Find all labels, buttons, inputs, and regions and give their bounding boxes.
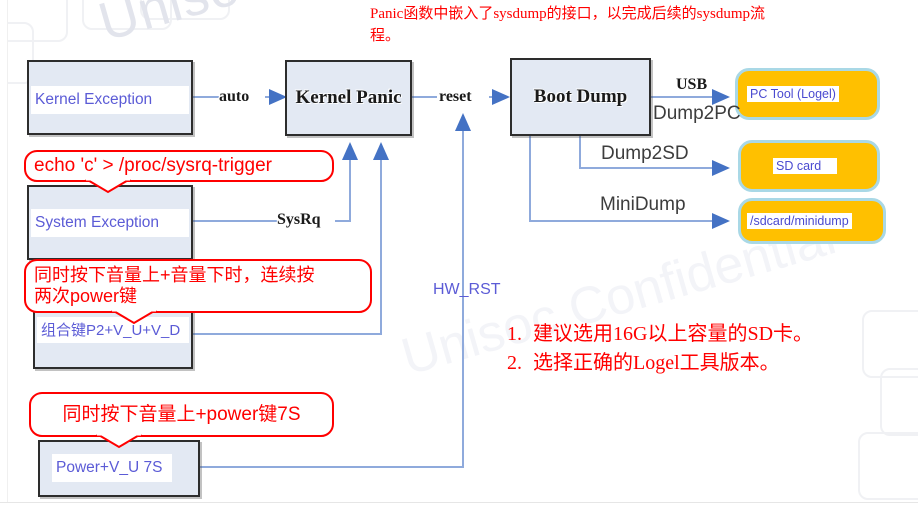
box-system-exception-label: System Exception: [35, 215, 159, 231]
callout-sysrq-trigger: echo 'c' > /proc/sysrq-trigger: [24, 150, 334, 182]
dest-minidump[interactable]: /sdcard/minidump: [738, 198, 886, 244]
callout-combo-key-tail: [110, 310, 158, 324]
edge-label-reset: reset: [439, 88, 472, 106]
box-kernel-exception-band: Kernel Exception: [31, 86, 189, 114]
box-combo-key-label: 组合键P2+V_U+V_D: [41, 323, 180, 338]
callout-sysrq-tail: [84, 179, 132, 193]
box-system-exception-band: System Exception: [31, 209, 189, 237]
callout-power-hint: 同时按下音量上+power键7S: [29, 392, 334, 437]
top-note: Panic函数中嵌入了sysdump的接口，以完成后续的sysdump流程。: [370, 4, 790, 48]
tips-list: 建议选用16G以上容量的SD卡。 选择正确的Logel工具版本。: [497, 320, 813, 378]
callout-combo-key-line2: 两次power键: [34, 286, 137, 307]
callout-power-hint-text: 同时按下音量上+power键7S: [62, 404, 300, 426]
box-power-vu[interactable]: Power+V_U 7S: [38, 440, 200, 497]
box-kernel-panic-label: Kernel Panic: [295, 87, 401, 109]
tip-item-1: 建议选用16G以上容量的SD卡。: [527, 320, 813, 349]
callout-combo-key-line1: 同时按下音量上+音量下时，连续按: [34, 265, 315, 286]
callout-sysrq-trigger-text: echo 'c' > /proc/sysrq-trigger: [34, 155, 272, 177]
decor-corner-bottom-right-3: [858, 432, 918, 500]
edge-label-minidump: MiniDump: [600, 194, 686, 216]
edge-label-usb: USB: [676, 76, 707, 94]
box-system-exception[interactable]: System Exception: [27, 185, 193, 260]
box-boot-dump[interactable]: Boot Dump: [510, 58, 651, 136]
tip-item-2: 选择正确的Logel工具版本。: [527, 349, 813, 378]
dest-sd-card[interactable]: SD card: [738, 140, 880, 192]
edge-label-sysrq: SysRq: [277, 211, 321, 229]
box-boot-dump-label: Boot Dump: [534, 86, 627, 108]
callout-combo-key-hint: 同时按下音量上+音量下时，连续按 两次power键: [24, 259, 372, 313]
edge-label-dump2pc: Dump2PC: [653, 103, 741, 125]
slide-bottom-edge: [0, 502, 918, 511]
decor-corner-top-mid-2: [140, 0, 230, 20]
box-power-vu-label: Power+V_U 7S: [56, 460, 162, 476]
box-kernel-exception-label: Kernel Exception: [35, 92, 152, 108]
edge-label-dump2sd: Dump2SD: [601, 143, 689, 165]
edge-label-hw-rst: HW_RST: [433, 281, 501, 299]
slide-left-edge: [0, 0, 8, 511]
dest-pc-tool-label: PC Tool (Logel): [747, 86, 839, 102]
box-kernel-exception[interactable]: Kernel Exception: [27, 60, 193, 135]
callout-power-hint-tail: [95, 434, 143, 448]
edge-label-auto: auto: [219, 88, 249, 106]
dest-minidump-label: /sdcard/minidump: [747, 213, 852, 229]
box-kernel-panic[interactable]: Kernel Panic: [285, 60, 412, 136]
slide-canvas: Unisoc Confidential Unisoc Confidential: [0, 0, 918, 511]
decor-corner-bottom-right-2: [880, 368, 918, 436]
dest-pc-tool[interactable]: PC Tool (Logel): [735, 68, 880, 120]
dest-sd-card-label: SD card: [773, 158, 837, 174]
box-power-vu-band: Power+V_U 7S: [52, 454, 172, 482]
